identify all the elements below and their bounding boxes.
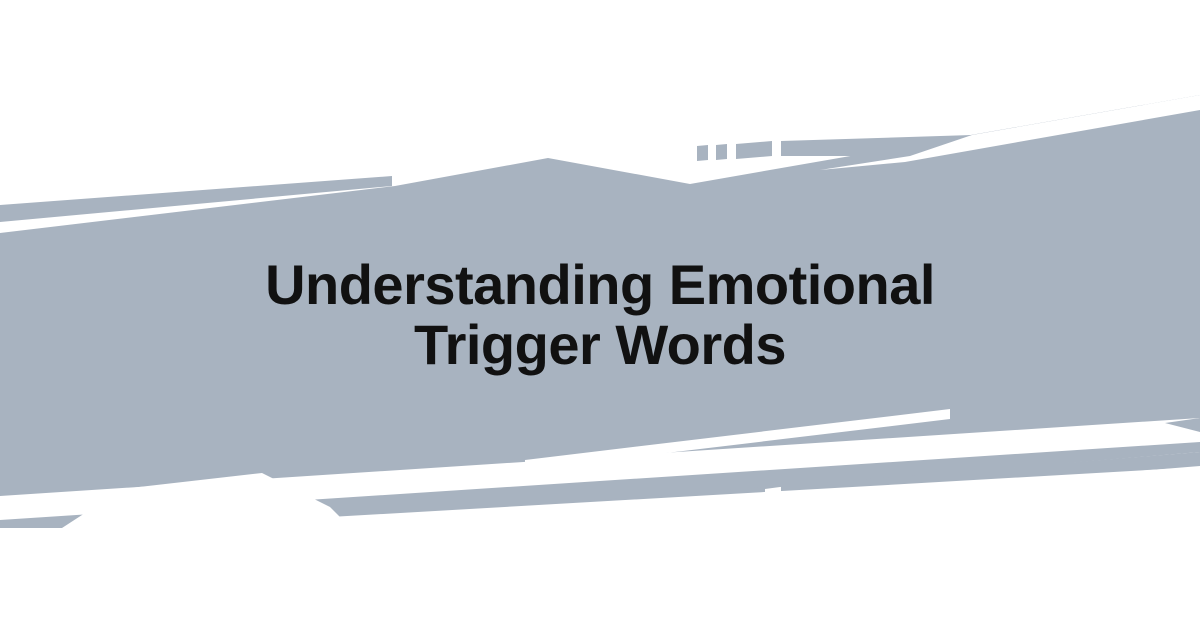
title-layer: Understanding Emotional Trigger Words [0, 0, 1200, 630]
banner-card: Understanding Emotional Trigger Words [0, 0, 1200, 630]
page-title: Understanding Emotional Trigger Words [185, 255, 1015, 376]
